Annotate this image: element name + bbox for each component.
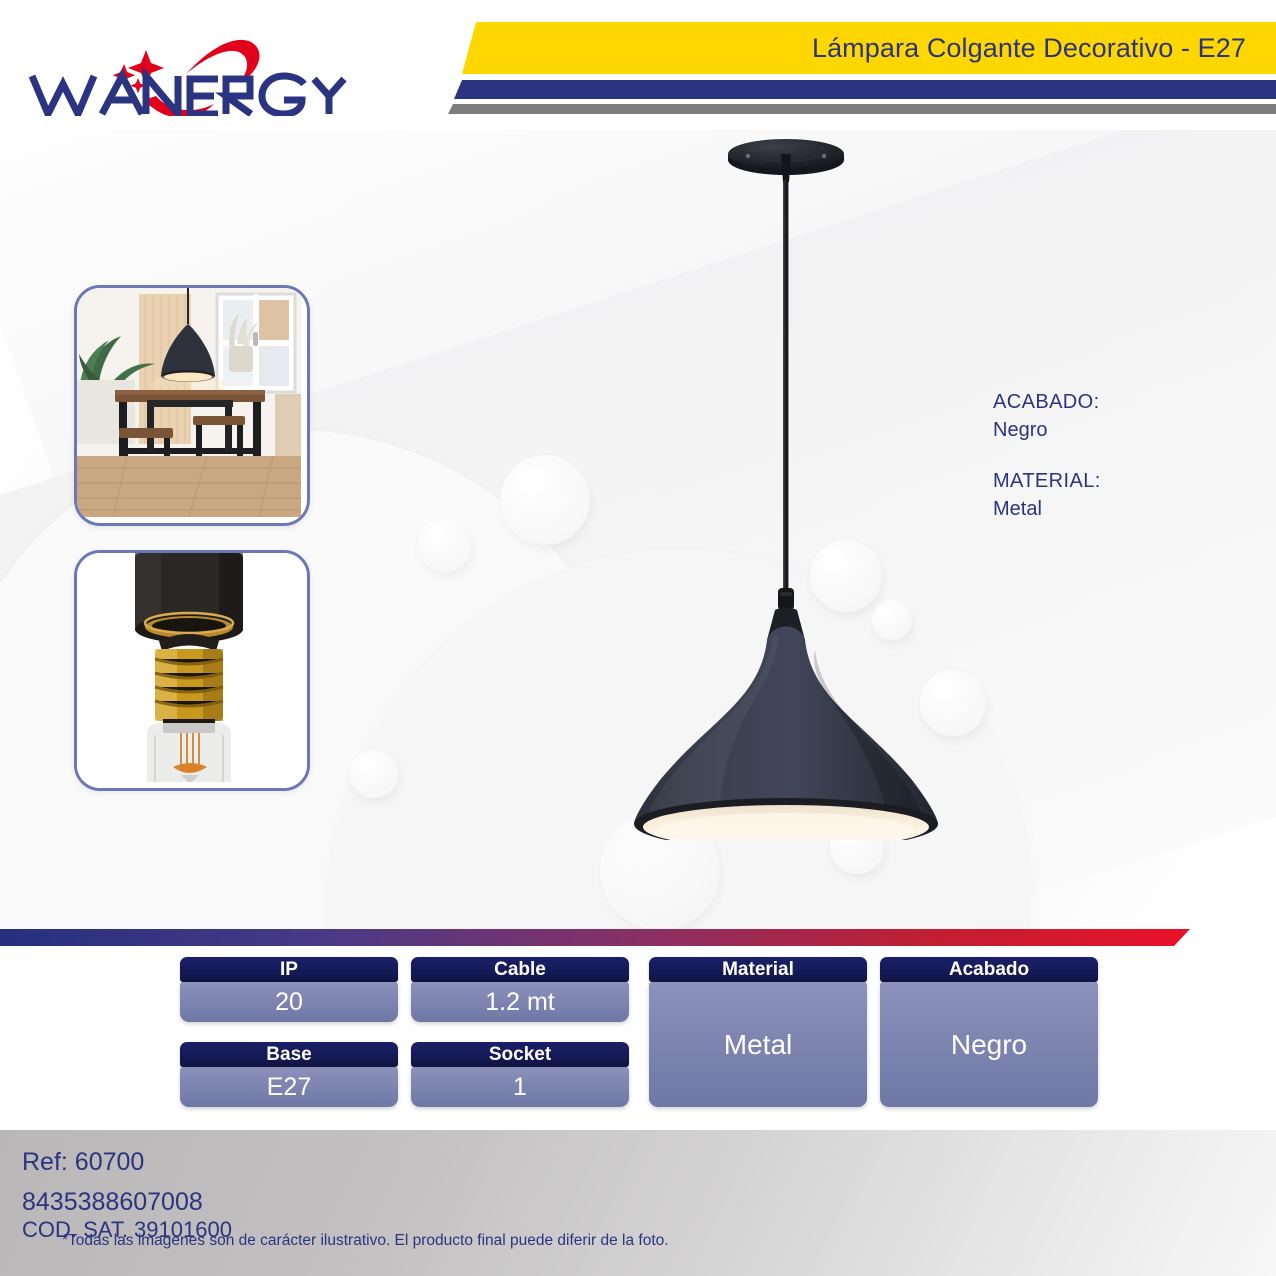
spec-card-material: Material Metal — [649, 957, 867, 1107]
spec-card-socket: Socket 1 — [411, 1042, 629, 1107]
material-value: Metal — [993, 495, 1101, 523]
page-footer: Ref: 60700 8435388607008 COD. SAT. 39101… — [0, 1130, 1276, 1276]
specifications-table: IP 20 Cable 1.2 mt Base E27 Socket 1 Mat… — [180, 957, 1110, 1112]
spec-card-base: Base E27 — [180, 1042, 398, 1107]
spec-value-cable: 1.2 mt — [411, 982, 629, 1022]
background-bubble-1 — [500, 455, 590, 545]
page-title: Lámpara Colgante Decorativo - E27 — [440, 22, 1276, 74]
acabado-value: Negro — [993, 416, 1101, 444]
logo-wordmark — [32, 76, 344, 114]
header-bands: Lámpara Colgante Decorativo - E27 — [440, 22, 1276, 122]
brand-logo — [18, 38, 438, 110]
product-stage: ACABADO: Negro MATERIAL: Metal ø300 mm *… — [0, 130, 1276, 930]
thumb-window — [217, 294, 295, 392]
header-grey-band — [448, 104, 1276, 114]
room-scene-thumbnail[interactable] — [74, 285, 310, 526]
background-bubble-6 — [350, 750, 398, 798]
reference-block: Ref: 60700 8435388607008 COD. SAT. 39101… — [22, 1147, 232, 1244]
spec-value-acabado: Negro — [880, 982, 1098, 1107]
thumb-socket-housing — [135, 553, 243, 643]
spec-header-acabado: Acabado — [880, 957, 1098, 982]
spec-header-ip: IP — [180, 957, 398, 982]
spec-value-ip: 20 — [180, 982, 398, 1022]
spec-card-acabado: Acabado Negro — [880, 957, 1098, 1107]
background-bubble-2 — [418, 518, 472, 572]
product-datasheet: Lámpara Colgante Decorativo - E27 — [0, 0, 1276, 1276]
spec-header-base: Base — [180, 1042, 398, 1067]
thumb-bulb-glass — [147, 723, 231, 782]
spec-value-socket: 1 — [411, 1067, 629, 1107]
spec-value-base: E27 — [180, 1067, 398, 1107]
ref-code: Ref: 60700 — [22, 1147, 232, 1178]
pendant-lamp-illustration — [600, 130, 1000, 840]
product-attributes: ACABADO: Negro MATERIAL: Metal — [993, 388, 1101, 546]
socket-detail-thumbnail[interactable] — [74, 550, 310, 791]
material-label: MATERIAL: — [993, 467, 1101, 495]
acabado-label: ACABADO: — [993, 388, 1101, 416]
spec-card-cable: Cable 1.2 mt — [411, 957, 629, 1022]
spec-card-ip: IP 20 — [180, 957, 398, 1022]
page-header: Lámpara Colgante Decorativo - E27 — [0, 0, 1276, 130]
section-divider — [0, 929, 1190, 946]
header-navy-band — [454, 80, 1276, 99]
spec-header-socket: Socket — [411, 1042, 629, 1067]
spec-header-cable: Cable — [411, 957, 629, 982]
spec-value-material: Metal — [649, 982, 867, 1107]
ean-code: 8435388607008 — [22, 1187, 232, 1218]
spec-header-material: Material — [649, 957, 867, 982]
disclaimer-text: *Todas las imagenes son de carácter ilus… — [62, 1232, 669, 1250]
